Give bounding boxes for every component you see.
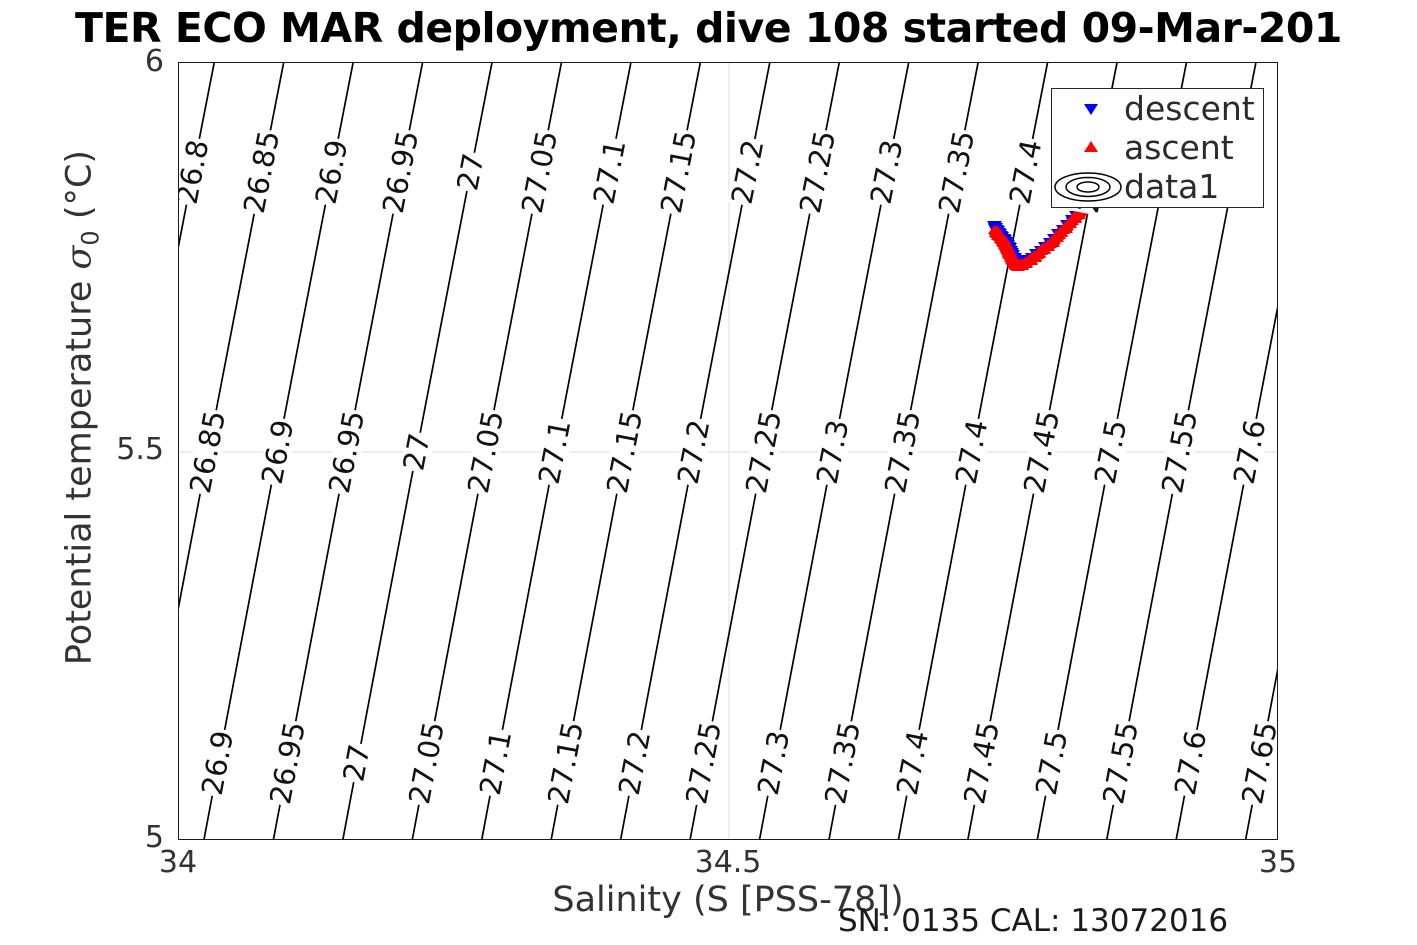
x-tick-label: 34.5 xyxy=(695,845,762,880)
contour-label: 27.4 xyxy=(892,728,933,799)
contour-label: 27.3 xyxy=(867,136,908,207)
contour-label: 27 xyxy=(339,741,375,785)
contour-label: 27.45 xyxy=(1019,408,1064,497)
contour-label: 27.05 xyxy=(518,127,563,216)
contour-label: 27 xyxy=(399,430,435,474)
legend-item-label: ascent xyxy=(1124,131,1234,164)
contour-label: 27.5 xyxy=(1090,417,1131,488)
contour-label: 27.6 xyxy=(1170,728,1211,799)
contour-label: 27.1 xyxy=(589,136,630,207)
contour-label: 27.55 xyxy=(1158,408,1203,497)
legend-item-data1[interactable]: data1 xyxy=(1052,167,1263,206)
contour-label: 27.15 xyxy=(543,719,587,808)
contour-label: 27.35 xyxy=(821,719,865,808)
contour-label: 26.85 xyxy=(186,408,231,497)
contour-label: 26.85 xyxy=(240,127,285,216)
contour-label: 27.2 xyxy=(615,728,656,799)
contour-label: 27.25 xyxy=(796,127,841,216)
contour-label: 26.8 xyxy=(178,136,213,207)
contour-label: 27.1 xyxy=(476,728,517,799)
contour-label: 26.9 xyxy=(311,136,352,207)
y-axis-label: Potential temperature σ0 (°C) xyxy=(60,88,105,728)
contour-label: 26.95 xyxy=(379,127,424,216)
contour-label: 27.2 xyxy=(674,417,715,488)
legend-item-descent[interactable]: descent xyxy=(1052,89,1263,128)
contour-label: 27.15 xyxy=(603,408,648,497)
contour-label: 26.9 xyxy=(257,417,298,488)
contour-label: 27.35 xyxy=(934,127,979,216)
contour-label: 27.05 xyxy=(405,719,449,808)
legend-item-label: data1 xyxy=(1124,170,1219,203)
x-tick-label: 35 xyxy=(1259,845,1297,880)
contour-label: 27.4 xyxy=(952,417,993,488)
contour-label: 27.1 xyxy=(535,417,576,488)
triangle-down-icon xyxy=(1052,89,1124,128)
triangle-up-icon xyxy=(1052,128,1124,167)
legend-item-label: descent xyxy=(1124,92,1255,125)
contour-label: 27.45 xyxy=(960,719,1004,808)
legend-item-ascent[interactable]: ascent xyxy=(1052,128,1263,167)
contour-label: 27.5 xyxy=(1031,728,1072,799)
contour-label: 27.4 xyxy=(1006,136,1047,207)
y-tick-label: 6 xyxy=(145,44,164,79)
contour-label: 27.05 xyxy=(464,408,509,497)
x-tick-label: 34 xyxy=(159,845,197,880)
contour-label: 27.6 xyxy=(1229,417,1270,488)
contour-label: 26.9 xyxy=(198,728,239,799)
contour-label: 27.2 xyxy=(728,136,769,207)
contour-label: 27.25 xyxy=(741,408,786,497)
contour-label: 27.15 xyxy=(657,127,702,216)
contour-label: 27.3 xyxy=(753,728,794,799)
contour-label: 27.25 xyxy=(682,719,726,808)
contour-ellipses-icon xyxy=(1052,167,1124,206)
y-tick-label: 5.5 xyxy=(116,432,164,467)
contour-label: 26.95 xyxy=(325,408,370,497)
contour-label: 27.65 xyxy=(1238,719,1278,808)
legend[interactable]: descent ascent data1 xyxy=(1051,88,1264,208)
contour-label: 26.95 xyxy=(266,719,310,808)
ts-diagram-figure: TER ECO MAR deployment, dive 108 started… xyxy=(0,0,1417,945)
sensor-annotation: SN: 0135 CAL: 13072016 xyxy=(838,903,1228,939)
page-title: TER ECO MAR deployment, dive 108 started… xyxy=(0,2,1417,54)
contour-label: 27.35 xyxy=(880,408,925,497)
contour-label: 27 xyxy=(453,150,489,194)
contour-label: 27.55 xyxy=(1099,719,1143,808)
contour-label: 27.3 xyxy=(813,417,854,488)
